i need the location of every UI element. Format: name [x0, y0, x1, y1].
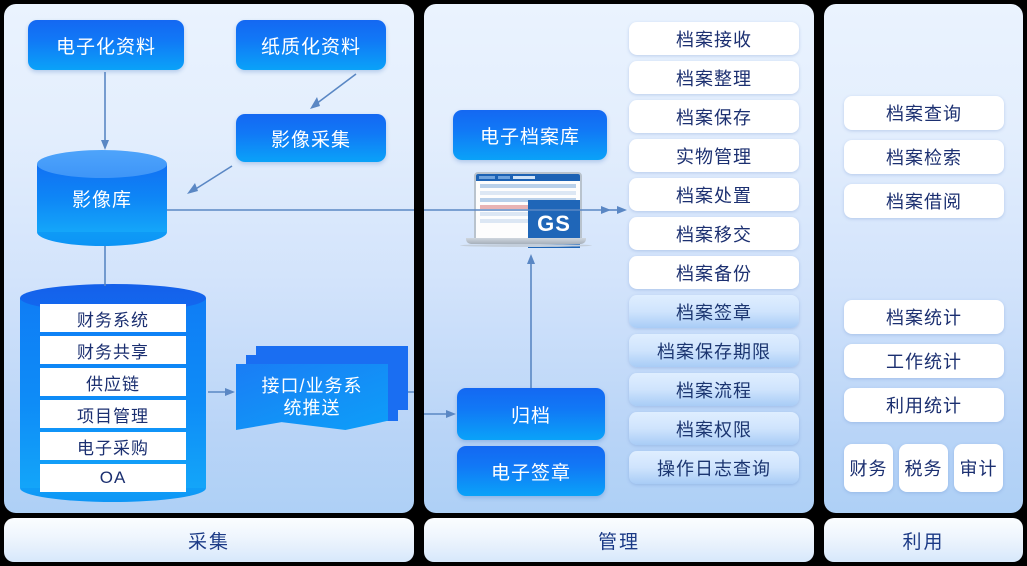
panel-manage: 电子档案库 GS 归档 电子签章	[424, 4, 814, 513]
diagram-canvas: 电子化资料 纸质化资料 影像采集 影像库 财务系统财务共享供应链项目管理电子采购…	[0, 0, 1027, 566]
management-item[interactable]: 档案移交	[629, 217, 799, 250]
box-label: 电子化资料	[56, 32, 156, 59]
use-item[interactable]: 档案借阅	[844, 184, 1004, 218]
box-e-signature[interactable]: 电子签章	[457, 446, 605, 496]
footer-collect: 采集	[4, 518, 414, 562]
management-item[interactable]: 档案签章	[629, 295, 799, 328]
box-label: 纸质化资料	[261, 32, 361, 59]
management-item[interactable]: 档案整理	[629, 61, 799, 94]
management-item[interactable]: 档案保存	[629, 100, 799, 133]
footer-manage: 管理	[424, 518, 814, 562]
management-item[interactable]: 实物管理	[629, 139, 799, 172]
box-label: 影像采集	[271, 125, 351, 152]
box-paper-data[interactable]: 纸质化资料	[236, 20, 386, 70]
card-label: 接口/业务系 统推送	[261, 375, 362, 420]
management-item[interactable]: 档案流程	[629, 373, 799, 406]
system-list-item[interactable]: 供应链	[40, 368, 186, 396]
system-list-item[interactable]: OA	[40, 464, 186, 492]
management-item[interactable]: 档案处置	[629, 178, 799, 211]
system-list-item[interactable]: 电子采购	[40, 432, 186, 460]
box-electronic-data[interactable]: 电子化资料	[28, 20, 184, 70]
laptop-shadow	[460, 244, 592, 247]
box-label: 电子档案库	[480, 122, 580, 149]
laptop-illustration: GS	[466, 172, 598, 252]
box-label: 归档	[511, 401, 551, 428]
use-item[interactable]: 档案检索	[844, 140, 1004, 174]
system-list-item[interactable]: 项目管理	[40, 400, 186, 428]
card-front: 接口/业务系 统推送	[236, 364, 388, 430]
footer-label: 利用	[902, 527, 944, 554]
box-image-capture[interactable]: 影像采集	[236, 114, 386, 162]
cylinder-label: 影像库	[37, 150, 167, 246]
use-item[interactable]: 利用统计	[844, 388, 1004, 422]
box-label: 电子签章	[491, 458, 571, 485]
arrow-paper-to-capture	[316, 74, 356, 104]
use-item[interactable]: 档案统计	[844, 300, 1004, 334]
panel-use: 档案查询档案检索档案借阅 档案统计工作统计利用统计 财务税务审计	[824, 4, 1023, 513]
management-item[interactable]: 档案保存期限	[629, 334, 799, 367]
system-list-item[interactable]: 财务共享	[40, 336, 186, 364]
laptop-screen-row	[480, 191, 576, 195]
arrow-capture-to-library	[194, 166, 232, 190]
gs-logo-text: GS	[537, 211, 571, 237]
box-archiving[interactable]: 归档	[457, 388, 605, 440]
management-item[interactable]: 档案备份	[629, 256, 799, 289]
system-list: 财务系统财务共享供应链项目管理电子采购OA	[40, 304, 186, 492]
box-e-archive-library[interactable]: 电子档案库	[453, 110, 607, 160]
system-list-item[interactable]: 财务系统	[40, 304, 186, 332]
use-tag[interactable]: 税务	[899, 444, 948, 492]
footer-label: 采集	[188, 527, 230, 554]
use-item[interactable]: 工作统计	[844, 344, 1004, 378]
use-item[interactable]: 档案查询	[844, 96, 1004, 130]
use-tag[interactable]: 财务	[844, 444, 893, 492]
card-interface-push[interactable]: 接口/业务系 统推送	[236, 346, 408, 438]
footer-use: 利用	[824, 518, 1023, 562]
cylinder-image-library[interactable]: 影像库	[37, 150, 167, 246]
management-item[interactable]: 档案权限	[629, 412, 799, 445]
panel-collect: 电子化资料 纸质化资料 影像采集 影像库 财务系统财务共享供应链项目管理电子采购…	[4, 4, 414, 513]
footer-label: 管理	[598, 527, 640, 554]
cylinder-business-systems: 财务系统财务共享供应链项目管理电子采购OA	[20, 284, 206, 502]
use-tag[interactable]: 审计	[954, 444, 1003, 492]
laptop-app-toolbar	[476, 174, 580, 181]
management-item[interactable]: 档案接收	[629, 22, 799, 55]
use-tag-group: 财务税务审计	[844, 444, 1004, 492]
management-item[interactable]: 操作日志查询	[629, 451, 799, 484]
laptop-screen-row	[480, 184, 576, 188]
